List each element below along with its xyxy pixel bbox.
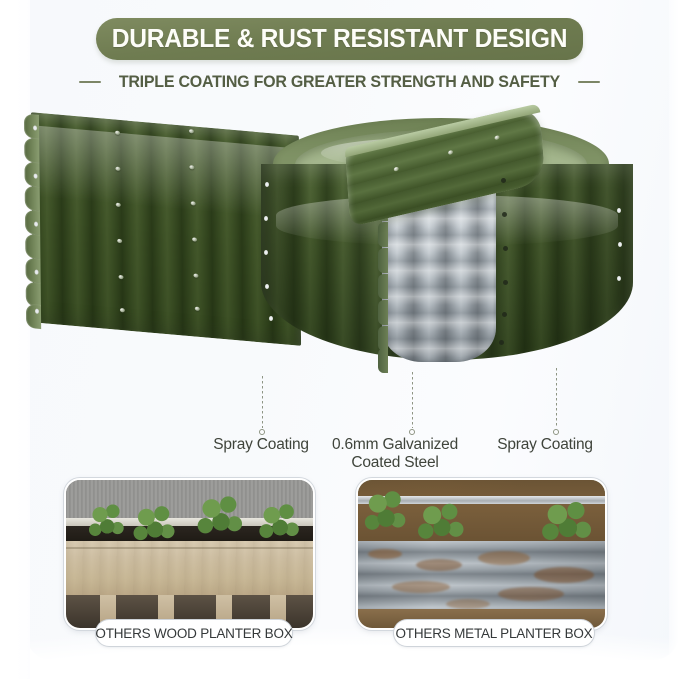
leader-line-right [556,368,557,428]
leader-knob-center [409,429,415,435]
dash-left-icon [79,81,101,83]
planter-body [261,112,651,397]
callout-label-spray-coating-right: Spray Coating [470,436,620,454]
photo-plant [258,502,304,546]
leader-knob-left [259,429,265,435]
callout-label-galvanized: 0.6mm Galvanized Coated Steel [320,436,470,472]
photo-corrugated-metal-wall [358,541,605,612]
wood-planter-box-photo [64,478,315,630]
photo-wood-front-panel [66,541,313,596]
photo-plant [196,494,248,542]
right-white-margin [669,0,679,679]
metal-planter-box-photo [356,478,607,630]
wood-planter-caption: OTHERS WOOD PLANTER BOX [96,620,292,646]
metal-planter-caption: OTHERS METAL PLANTER BOX [394,620,594,646]
photo-plant [416,502,470,546]
panel-scalloped-edge [24,112,42,324]
subtitle-row: TRIPLE COATING FOR GREATER STRENGTH AND … [0,70,679,94]
callout-label-spray-coating-left: Spray Coating [186,436,336,454]
callout-galvanized-line1: 0.6mm Galvanized [320,436,470,454]
infographic-canvas: DURABLE & RUST RESISTANT DESIGN TRIPLE C… [0,0,679,679]
photo-plant [364,488,410,540]
leader-line-left [262,376,263,428]
leader-line-center [412,372,413,428]
page-title: DURABLE & RUST RESISTANT DESIGN [105,18,575,60]
product-illustration [18,104,661,404]
leader-knob-right [553,429,559,435]
photo-plant [88,502,128,544]
dash-right-icon [578,81,600,83]
subtitle: TRIPLE COATING FOR GREATER STRENGTH AND … [119,73,560,92]
callout-galvanized-line2: Coated Steel [320,454,470,472]
photo-wood-seam [66,547,313,549]
